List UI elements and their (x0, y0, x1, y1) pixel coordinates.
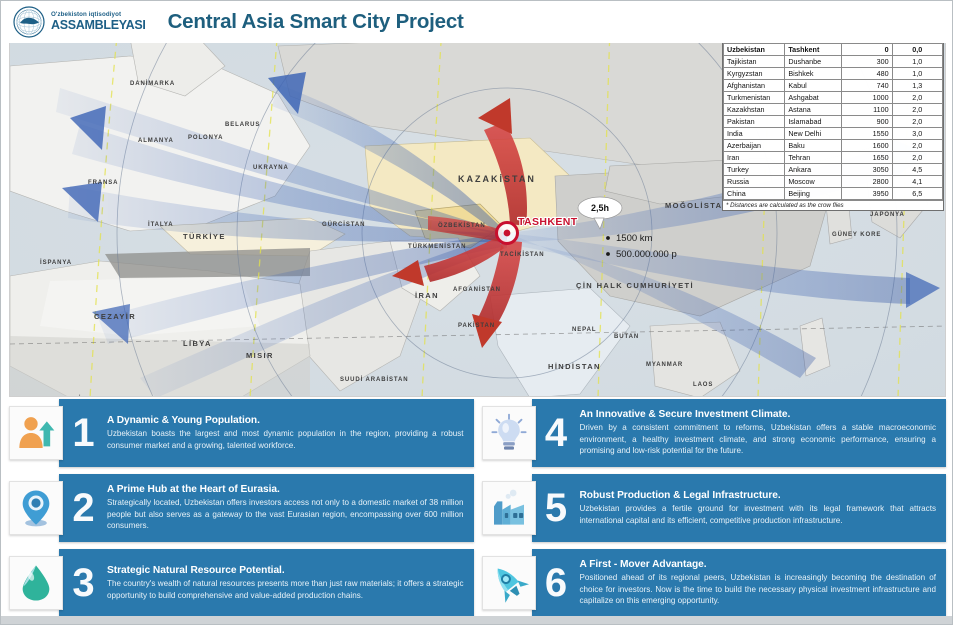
globe-emblem-icon (13, 6, 45, 38)
factory-icon (482, 481, 536, 535)
map-country-label: ALMANYA (138, 138, 174, 144)
cell-capital: Astana (785, 104, 842, 116)
benefit-card-5[interactable]: 5Robust Production & Legal Infrastructur… (482, 474, 947, 542)
card-body: 6A First - Mover Advantage.Positioned ah… (532, 549, 947, 617)
card-body: 1A Dynamic & Young Population.Uzbekistan… (59, 399, 474, 467)
cell-distance-km: 0 (842, 44, 892, 56)
map-country-label: LİBYA (183, 339, 212, 348)
cell-flight-hours: 4,5 (892, 164, 942, 176)
cell-country: Iran (724, 152, 785, 164)
table-row: TurkeyAnkara30504,5 (724, 164, 943, 176)
map-country-label: AFGANİSTAN (453, 286, 501, 293)
cell-country: Azerbaijan (724, 140, 785, 152)
map-country-label: HİNDİSTAN (548, 362, 601, 371)
cell-distance-km: 3050 (842, 164, 892, 176)
cell-distance-km: 900 (842, 116, 892, 128)
cell-flight-hours: 2,0 (892, 92, 942, 104)
cell-flight-hours: 3,0 (892, 128, 942, 140)
table-body: UzbekistanTashkent00,0TajikistanDushanbe… (724, 44, 943, 200)
map-country-label: MISIR (246, 351, 274, 360)
card-title: A First - Mover Advantage. (580, 559, 937, 570)
cell-capital: Moscow (785, 176, 842, 188)
cell-distance-km: 1550 (842, 128, 892, 140)
map-country-label: İSPANYA (40, 259, 72, 266)
cell-distance-km: 1000 (842, 92, 892, 104)
cell-capital: Beijing (785, 188, 842, 200)
card-description: Uzbekistan boasts the largest and most d… (107, 428, 464, 451)
card-description: Uzbekistan provides a fertile ground for… (580, 503, 937, 526)
cell-flight-hours: 1,0 (892, 68, 942, 80)
card-title: An Innovative & Secure Investment Climat… (580, 409, 937, 420)
map-country-label: FRANSA (88, 180, 118, 186)
cell-distance-km: 740 (842, 80, 892, 92)
cell-distance-km: 2800 (842, 176, 892, 188)
page-header: O'zbekiston iqtisodiyot ASSAMBLEYASI Cen… (1, 1, 953, 43)
cell-country: China (724, 188, 785, 200)
map-country-label: SUUDİ ARABİSTAN (340, 376, 409, 383)
map-country-label: DANİMARKA (130, 80, 175, 87)
cell-flight-hours: 2,0 (892, 104, 942, 116)
card-number: 1 (63, 415, 103, 451)
table-row: UzbekistanTashkent00,0 (724, 44, 943, 56)
cell-country: Turkmenistan (724, 92, 785, 104)
card-description: Driven by a consistent commitment to ref… (580, 422, 937, 456)
card-description: Strategically located, Uzbekistan offers… (107, 497, 464, 531)
organization-logo: O'zbekiston iqtisodiyot ASSAMBLEYASI (13, 6, 146, 38)
map-country-label: UKRAYNA (253, 165, 289, 171)
card-number: 4 (536, 415, 576, 451)
cell-capital: Kabul (785, 80, 842, 92)
map-country-label: CEZAYİR (94, 312, 136, 321)
cell-distance-km: 1100 (842, 104, 892, 116)
map-country-label: İRAN (415, 291, 439, 300)
card-description: The country's wealth of natural resource… (107, 578, 464, 601)
cell-flight-hours: 0,0 (892, 44, 942, 56)
card-description: Positioned ahead of its regional peers, … (580, 572, 937, 606)
logo-name: ASSAMBLEYASI (51, 19, 146, 32)
benefit-card-3[interactable]: 3Strategic Natural Resource Potential.Th… (9, 549, 474, 617)
cell-capital: Tashkent (785, 44, 842, 56)
legend-population: 500.000.000 p (616, 249, 677, 260)
map-country-label: İTALYA (148, 221, 174, 228)
cell-country: Kyrgyzstan (724, 68, 785, 80)
cell-country: Uzbekistan (724, 44, 785, 56)
cell-country: Russia (724, 176, 785, 188)
card-body: 2A Prime Hub at the Heart of Eurasia.Str… (59, 474, 474, 542)
cell-capital: Baku (785, 140, 842, 152)
map-country-label: TÜRKİYE (183, 232, 226, 241)
card-title: A Dynamic & Young Population. (107, 415, 464, 426)
card-number: 6 (536, 565, 576, 601)
page-title: Central Asia Smart City Project (168, 10, 464, 34)
cell-distance-km: 480 (842, 68, 892, 80)
table-row: RussiaMoscow28004,1 (724, 176, 943, 188)
map-country-label: ÖZBEKİSTAN (438, 222, 486, 229)
table-row: KazakhstanAstana11002,0 (724, 104, 943, 116)
cell-capital: New Delhi (785, 128, 842, 140)
cell-flight-hours: 1,0 (892, 56, 942, 68)
cell-distance-km: 300 (842, 56, 892, 68)
map-country-label: MYANMAR (646, 362, 683, 368)
cell-country: India (724, 128, 785, 140)
cell-country: Afghanistan (724, 80, 785, 92)
benefit-card-2[interactable]: 2A Prime Hub at the Heart of Eurasia.Str… (9, 474, 474, 542)
map-country-label: TÜRKMENİSTAN (408, 243, 466, 250)
table-row: IndiaNew Delhi15503,0 (724, 128, 943, 140)
benefit-card-4[interactable]: 4An Innovative & Secure Investment Clima… (482, 399, 947, 467)
map-country-label: BELARUS (225, 122, 260, 128)
card-number: 5 (536, 490, 576, 526)
cell-distance-km: 1650 (842, 152, 892, 164)
card-number: 3 (63, 565, 103, 601)
map-country-label: POLONYA (188, 135, 223, 141)
table-row: KyrgyzstanBishkek4801,0 (724, 68, 943, 80)
cell-capital: Ashgabat (785, 92, 842, 104)
cell-flight-hours: 4,1 (892, 176, 942, 188)
cell-capital: Dushanbe (785, 56, 842, 68)
map-country-label: KAZAKİSTAN (458, 174, 536, 184)
card-body: 5Robust Production & Legal Infrastructur… (532, 474, 947, 542)
table-row: TajikistanDushanbe3001,0 (724, 56, 943, 68)
table-row: AzerbaijanBaku16002,0 (724, 140, 943, 152)
legend-time-bubble: 2,5h (591, 203, 609, 213)
map-country-label: PAKİSTAN (458, 322, 495, 329)
cell-flight-hours: 2,0 (892, 140, 942, 152)
population-person-arrow-icon (9, 406, 63, 460)
cell-distance-km: 3950 (842, 188, 892, 200)
rocket-icon (482, 556, 536, 610)
cell-flight-hours: 6,5 (892, 188, 942, 200)
cell-distance-km: 1600 (842, 140, 892, 152)
table-row: PakistanIslamabad9002,0 (724, 116, 943, 128)
water-droplet-icon (9, 556, 63, 610)
card-title: Strategic Natural Resource Potential. (107, 565, 464, 576)
table-row: TurkmenistanAshgabat10002,0 (724, 92, 943, 104)
bottom-strip (1, 616, 953, 624)
map-country-label: NEPAL (572, 327, 596, 333)
card-body: 4An Innovative & Secure Investment Clima… (532, 399, 947, 467)
cell-country: Pakistan (724, 116, 785, 128)
cell-country: Kazakhstan (724, 104, 785, 116)
card-title: A Prime Hub at the Heart of Eurasia. (107, 484, 464, 495)
map-country-label: BUTAN (614, 334, 639, 340)
map-country-label: MALİ (58, 394, 82, 397)
legend-distance: 1500 km (616, 233, 653, 244)
map-country-label: JAPONYA (870, 212, 905, 218)
infographic-slide: TASHKENT 2,5h 1500 km 500.000.000 p İSPA… (0, 0, 953, 625)
location-pin-icon (9, 481, 63, 535)
cell-capital: Islamabad (785, 116, 842, 128)
lightbulb-icon (482, 406, 536, 460)
cell-country: Turkey (724, 164, 785, 176)
table-row: IranTehran16502,0 (724, 152, 943, 164)
benefit-card-6[interactable]: 6A First - Mover Advantage.Positioned ah… (482, 549, 947, 617)
cell-capital: Tehran (785, 152, 842, 164)
card-title: Robust Production & Legal Infrastructure… (580, 490, 937, 501)
map-country-label: ÇİN HALK CUMHURİYETİ (576, 281, 694, 290)
map-country-label: GÜNEY KORE (832, 231, 881, 238)
table-row: ChinaBeijing39506,5 (724, 188, 943, 200)
card-number: 2 (63, 490, 103, 526)
map-country-label: GÜRCİSTAN (322, 221, 365, 228)
map-country-label: MOĞOLİSTAN (665, 201, 729, 210)
table-footnote: * Distances are calculated as the crow f… (723, 200, 943, 210)
cell-flight-hours: 1,3 (892, 80, 942, 92)
cell-country: Tajikistan (724, 56, 785, 68)
map-country-label: LAOS (693, 382, 713, 388)
map-country-label: TACİKİSTAN (500, 251, 544, 258)
cell-capital: Ankara (785, 164, 842, 176)
card-body: 3Strategic Natural Resource Potential.Th… (59, 549, 474, 617)
cell-flight-hours: 2,0 (892, 116, 942, 128)
cell-capital: Bishkek (785, 68, 842, 80)
benefit-cards: 1A Dynamic & Young Population.Uzbekistan… (9, 399, 946, 621)
benefit-card-1[interactable]: 1A Dynamic & Young Population.Uzbekistan… (9, 399, 474, 467)
hub-label: TASHKENT (518, 216, 578, 228)
table-row: AfghanistanKabul7401,3 (724, 80, 943, 92)
cell-flight-hours: 2,0 (892, 152, 942, 164)
